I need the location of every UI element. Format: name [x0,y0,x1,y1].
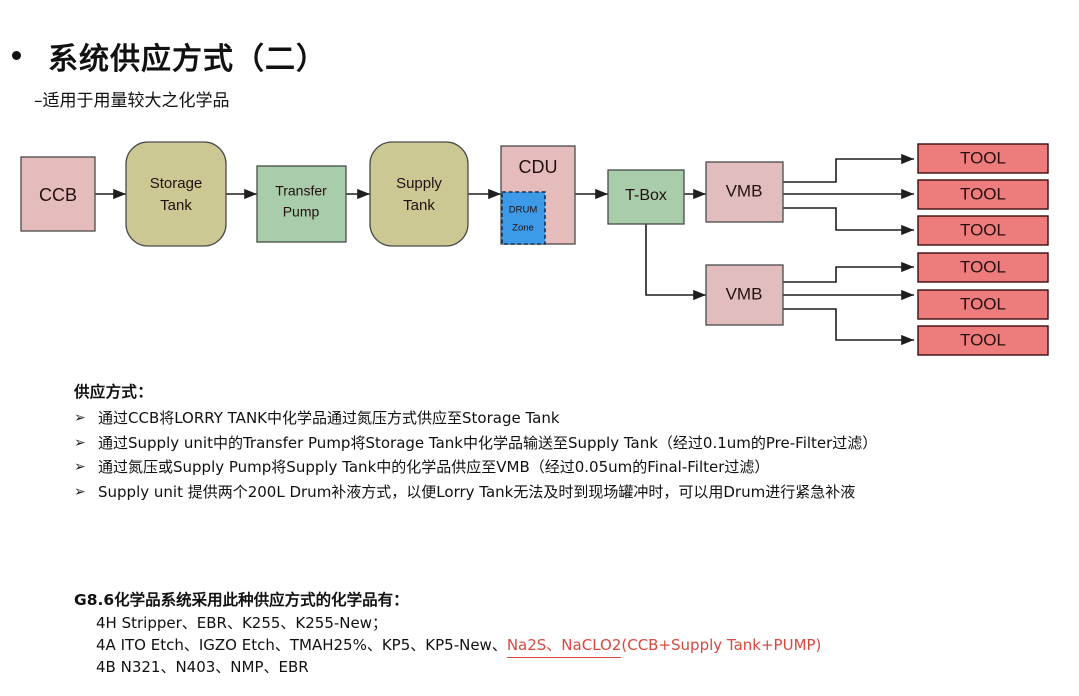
node-drum-zone-label-line2: Zone [512,223,534,234]
node-tool-1-label: TOOL [960,148,1006,167]
supply-bullet-2-text: 通过Supply unit中的Transfer Pump将Storage Tan… [98,433,1064,454]
arrow-bullet-icon: ➢ [74,457,98,477]
chemical-line-4h: 4H Stripper、EBR、K255、K255-New； [96,613,1064,635]
supply-method-heading: 供应方式： [74,380,1064,402]
title-block: 系统供应方式（二） [0,34,640,78]
node-vmb-top[interactable]: VMB [706,162,783,222]
node-tool-6-label: TOOL [960,330,1006,349]
node-tool-4[interactable]: TOOL [918,253,1048,282]
supply-bullet-3-text: 通过氮压或Supply Pump将Supply Tank中的化学品供应至VMB（… [98,457,1064,478]
node-tool-3[interactable]: TOOL [918,216,1048,245]
node-ccb-label: CCB [39,185,77,205]
node-cdu-label: CDU [519,157,558,177]
supply-bullet-2: ➢ 通过Supply unit中的Transfer Pump将Storage T… [74,433,1064,454]
node-tool-5-label: TOOL [960,294,1006,313]
node-drum-zone[interactable]: DRUM Zone [502,192,545,244]
node-tool-4-label: TOOL [960,257,1006,276]
supply-method-section: 供应方式： ➢ 通过CCB将LORRY TANK中化学品通过氮压方式供应至Sto… [74,380,1064,507]
node-storage-tank-label-line1: Storage [150,175,203,192]
node-vmb-bottom[interactable]: VMB [706,265,783,325]
chemical-line-4b: 4B N321、N403、NMP、EBR [96,657,1064,679]
node-ccb[interactable]: CCB [21,157,95,231]
chemical-line-4a-highlight: Na2S、NaCLO2 [507,636,622,658]
node-tool-5[interactable]: TOOL [918,290,1048,319]
node-storage-tank-label-line2: Tank [160,197,192,214]
chemical-line-4a-black: 4A ITO Etch、IGZO Etch、TMAH25%、KP5、KP5-Ne… [96,636,507,654]
node-transfer-pump[interactable]: Transfer Pump [257,166,346,242]
node-t-box-label: T-Box [625,187,667,204]
chemical-line-4a: 4A ITO Etch、IGZO Etch、TMAH25%、KP5、KP5-Ne… [96,635,1064,657]
page-title: 系统供应方式（二） [48,34,327,78]
node-t-box[interactable]: T-Box [608,170,684,224]
node-supply-tank[interactable]: Supply Tank [370,142,468,246]
node-tool-1[interactable]: TOOL [918,144,1048,173]
arrow-bullet-icon: ➢ [74,408,98,428]
page-subtitle: –适用于用量较大之化学品 [34,86,230,111]
supply-bullet-4-text: Supply unit 提供两个200L Drum补液方式，以便Lorry Ta… [98,482,1064,503]
node-tool-6[interactable]: TOOL [918,326,1048,355]
chemical-list-section: G8.6化学品系统采用此种供应方式的化学品有： 4H Stripper、EBR、… [74,588,1064,678]
arrow-bullet-icon: ➢ [74,482,98,502]
node-tool-2[interactable]: TOOL [918,180,1048,209]
node-transfer-pump-label-line1: Transfer [275,183,327,199]
supply-bullet-4: ➢ Supply unit 提供两个200L Drum补液方式，以便Lorry … [74,482,1064,503]
supply-bullet-1: ➢ 通过CCB将LORRY TANK中化学品通过氮压方式供应至Storage T… [74,408,1064,429]
supply-bullet-3: ➢ 通过氮压或Supply Pump将Supply Tank中的化学品供应至VM… [74,457,1064,478]
node-drum-zone-label-line1: DRUM [509,205,538,216]
process-flow-diagram: CCB Storage Tank Transfer Pump Supply Ta… [0,130,1079,370]
node-storage-tank[interactable]: Storage Tank [126,142,226,246]
node-vmb-top-label: VMB [726,181,763,200]
node-tool-2-label: TOOL [960,184,1006,203]
node-tool-3-label: TOOL [960,220,1006,239]
supply-bullet-1-text: 通过CCB将LORRY TANK中化学品通过氮压方式供应至Storage Tan… [98,408,1064,429]
node-supply-tank-label-line2: Tank [403,197,435,214]
chemical-line-4a-note: (CCB+Supply Tank+PUMP) [621,636,821,654]
node-transfer-pump-label-line2: Pump [283,204,320,220]
node-vmb-bottom-label: VMB [726,284,763,303]
arrow-bullet-icon: ➢ [74,433,98,453]
chemical-list-heading: G8.6化学品系统采用此种供应方式的化学品有： [74,588,1064,610]
node-supply-tank-label-line1: Supply [396,175,442,192]
title-bullet-icon [12,51,21,60]
